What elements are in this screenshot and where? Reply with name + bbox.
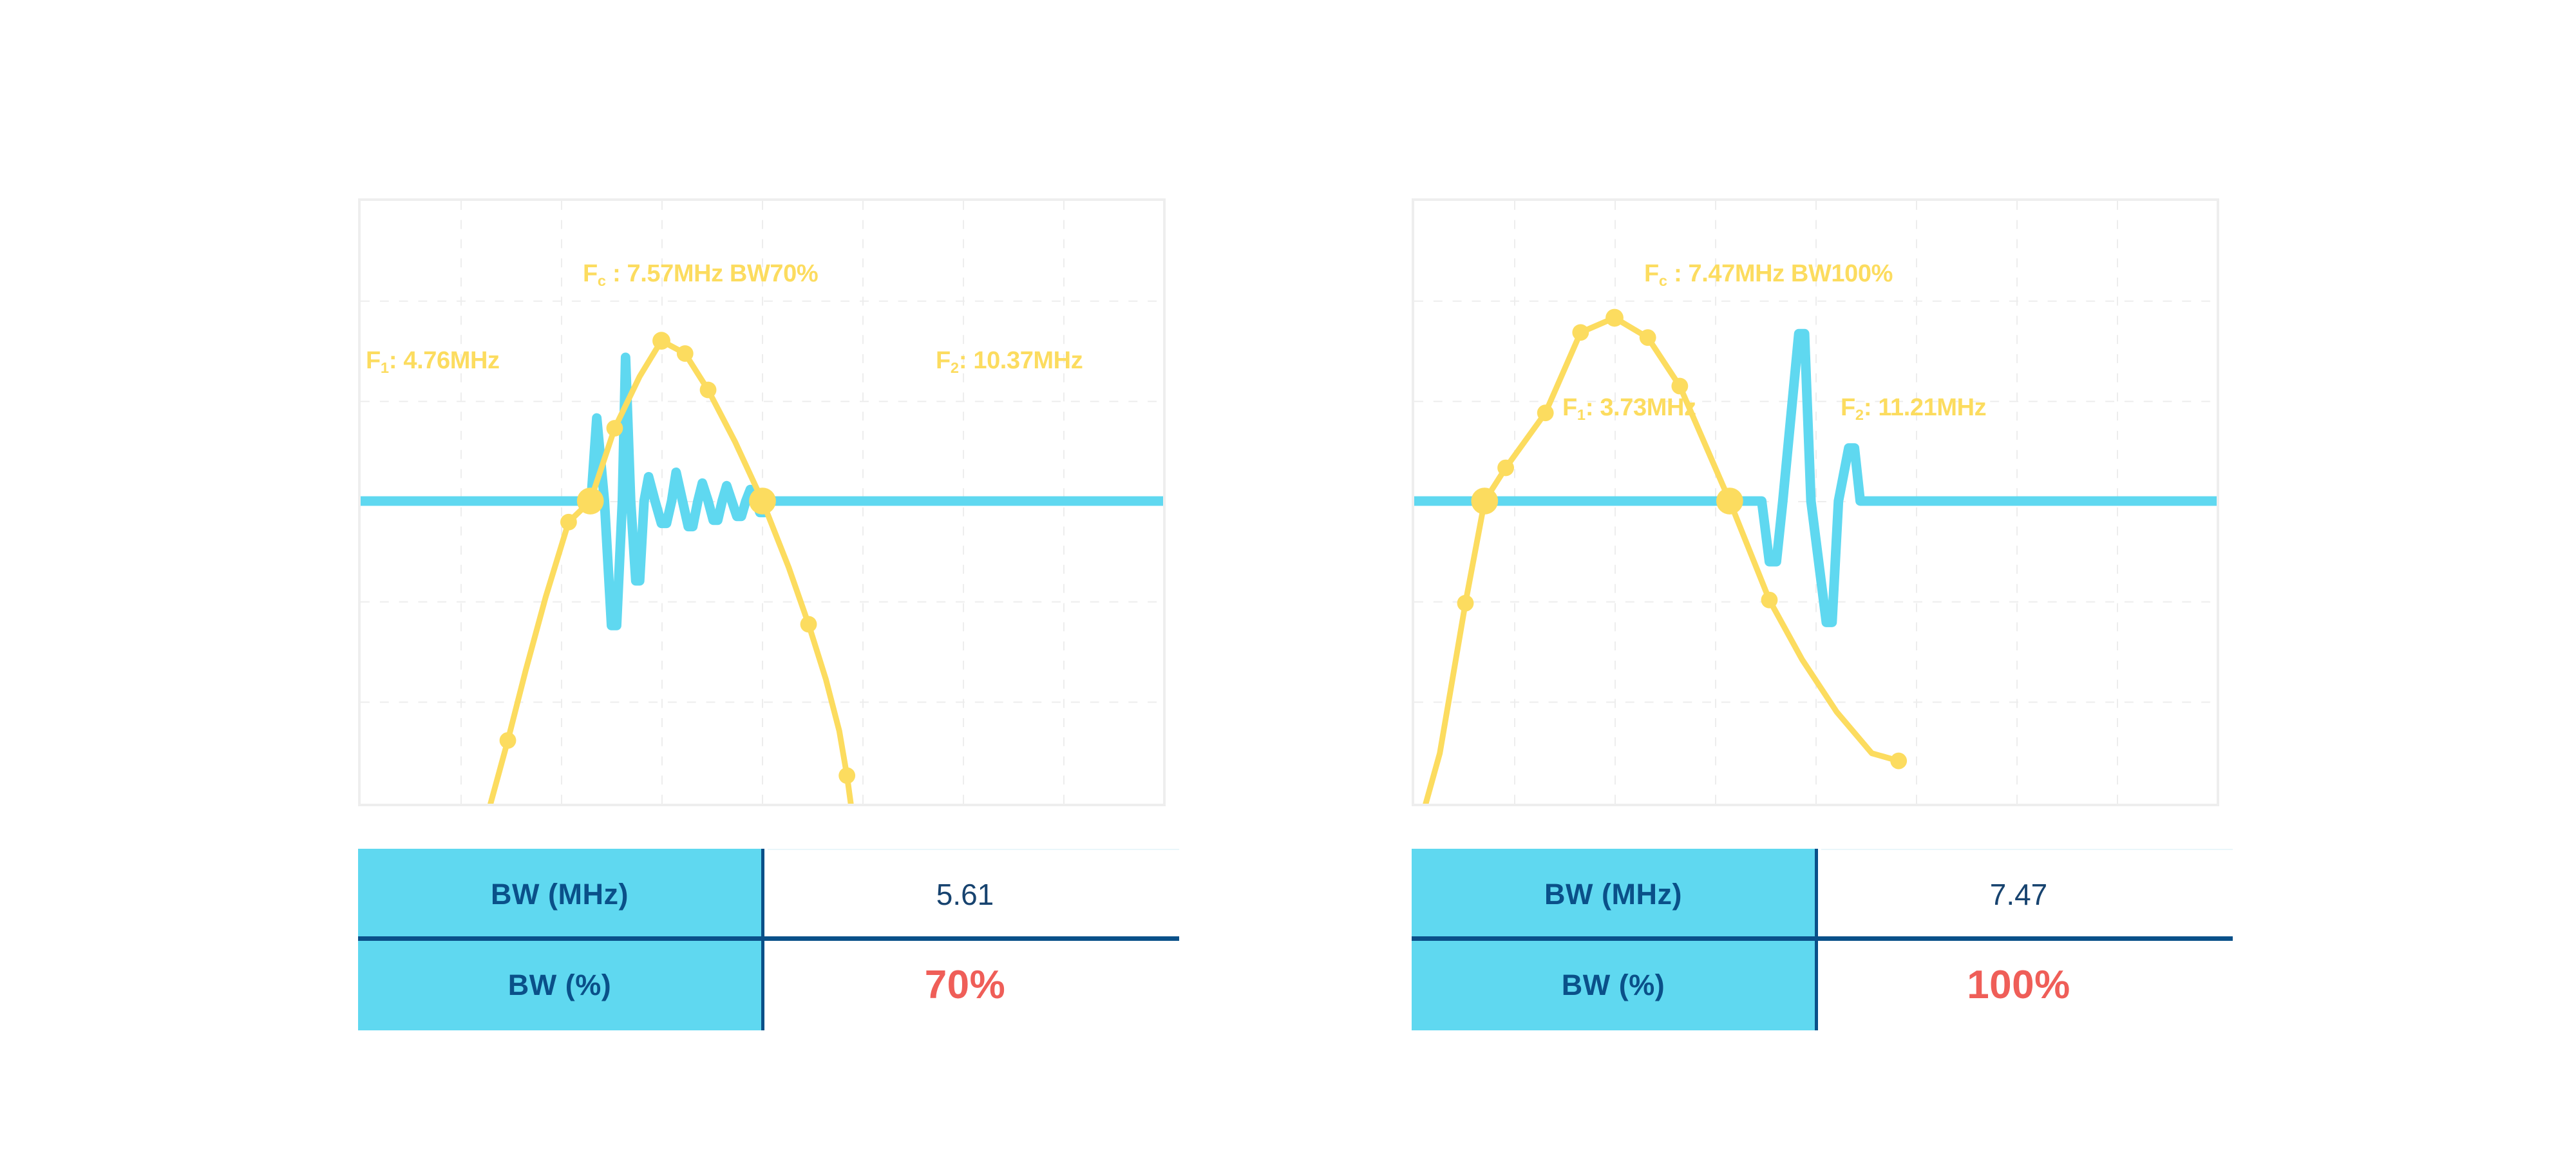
left-bw-pct-key-label: BW (%) [508,969,611,1002]
right-f2-marker [1716,487,1743,515]
right-chart-plot [1414,201,2217,804]
left-bw-pct-key: BW (%) [358,940,764,1030]
left-bw-table: BW (MHz) 5.61 BW (%) 70% [358,849,1166,1030]
left-bw-pct-value-cell: 70% [764,940,1166,1030]
left-chart-frame: Fc : 7.57MHz BW70% F1: 4.76MHz F2: 10.37… [358,198,1166,806]
left-bw-pct-value: 70% [925,962,1006,1008]
right-bw-pct-key: BW (%) [1412,940,1818,1030]
right-bw-pct-value-cell: 100% [1818,940,2219,1030]
right-bw-mhz-key: BW (MHz) [1412,849,1818,940]
left-chart-plot [361,201,1163,804]
left-table-divider [358,936,1179,941]
left-spectrum-trace [491,341,851,804]
left-bw-mhz-value-cell: 5.61 [764,849,1166,940]
comparison-figure: Fc : 7.57MHz BW70% F1: 4.76MHz F2: 10.37… [0,0,2576,1154]
left-spectrum-markers [500,332,855,784]
right-bw-pct-key-label: BW (%) [1562,969,1665,1002]
left-bw-mhz-value: 5.61 [936,877,994,912]
right-table-top-rule [1821,849,2233,850]
right-table-divider [1412,936,2233,941]
table-row: BW (%) 70% [358,940,1166,1030]
right-bw-mhz-key-label: BW (MHz) [1544,878,1682,911]
right-bw-mhz-value-cell: 7.47 [1818,849,2219,940]
right-bw-table: BW (MHz) 7.47 BW (%) 100% [1412,849,2219,1030]
left-table-top-rule [768,849,1179,850]
bw70-panel: Fc : 7.57MHz BW70% F1: 4.76MHz F2: 10.37… [358,198,1166,1030]
right-spectrum-trace [1426,317,1899,804]
right-bw-pct-value: 100% [1967,962,2070,1008]
table-row: BW (MHz) 5.61 [358,849,1166,940]
left-bw-mhz-key-label: BW (MHz) [491,878,629,911]
table-row: BW (MHz) 7.47 [1412,849,2219,940]
left-bw-mhz-key: BW (MHz) [358,849,764,940]
right-bw-mhz-value: 7.47 [1990,877,2048,912]
right-chart-frame: Fc : 7.47MHz BW100% F1: 3.73MHz F2: 11.2… [1412,198,2219,806]
left-f1-marker [577,487,604,515]
right-f1-marker [1471,487,1498,515]
left-f2-marker [749,487,776,515]
bw100-panel: Fc : 7.47MHz BW100% F1: 3.73MHz F2: 11.2… [1412,198,2219,1030]
table-row: BW (%) 100% [1412,940,2219,1030]
